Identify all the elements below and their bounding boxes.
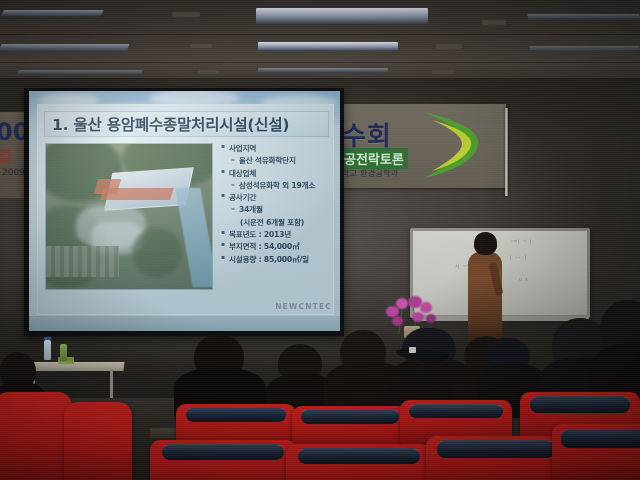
lecture-hall-photo: 00 업 2009. 수회 공전락토론 학교 환경공학과 1. 울산 용암폐수종… [0, 0, 640, 480]
bullet-item: 34개월 [220, 204, 325, 216]
slide-title: 1. 울산 용암폐수종말처리시설(신설) [44, 111, 329, 137]
bullet-item: 삼성석유화학 외 19개소 [220, 180, 325, 192]
green-bottle [60, 344, 67, 361]
presenter-head [474, 232, 497, 255]
ceiling-vent [432, 70, 454, 74]
bullet-item: 울산 석유화학단지 [220, 155, 325, 167]
ceiling-light-fixture [0, 10, 103, 17]
ceiling-light-fixture [17, 70, 142, 75]
auditorium-seat[interactable] [552, 424, 640, 480]
bullet-item: 사업지역 [220, 143, 325, 155]
auditorium-seat[interactable] [286, 444, 432, 480]
banner-swoosh-icon [422, 110, 500, 180]
ceiling-light-fixture [0, 44, 129, 52]
auditorium-seat[interactable] [0, 392, 72, 480]
whiteboard-writing: o x [519, 277, 528, 283]
ceiling-light-fixture [258, 68, 388, 73]
banner-subtitle: 공전락토론 [340, 148, 408, 169]
ceiling-light-fixture [256, 8, 428, 24]
ceiling-vent [190, 44, 212, 48]
ceiling-vent [172, 12, 200, 17]
ceiling-vent [436, 44, 462, 49]
auditorium-seat[interactable] [64, 402, 132, 480]
ceiling-vent [482, 20, 506, 25]
auditorium-seat[interactable] [150, 440, 296, 480]
projection-screen: 1. 울산 용암폐수종말처리시설(신설) 사업지역 울산 석 [24, 88, 344, 336]
presenter-person [466, 232, 504, 344]
auditorium-seat[interactable] [426, 436, 566, 480]
whiteboard-writing: ~=( ~ ) [511, 239, 532, 245]
bullet-item: 시설용량 : 85,000㎡/일 [220, 254, 325, 266]
ceiling [0, 0, 640, 84]
slide-photo-aerial-rendering [45, 143, 213, 290]
audience-person [182, 334, 258, 414]
ceiling-light-fixture [529, 46, 640, 52]
bullet-item: 공사기간 [220, 192, 325, 204]
slide-company-logo: NEWCNTEC [275, 302, 332, 311]
ceiling-vent [198, 70, 218, 74]
ceiling-light-fixture [258, 42, 398, 51]
banner-pole [505, 108, 508, 196]
bottle-cap [44, 337, 51, 340]
ceiling-light-fixture [527, 14, 640, 20]
bullet-item: 목표년도 : 2013년 [220, 229, 325, 241]
slide-bullet-list: 사업지역 울산 석유화학단지 대상업체 삼성석유화학 외 19개소 공사기간 3… [220, 143, 325, 266]
bullet-item: (시운전 6개월 포함) [220, 217, 325, 229]
event-banner: 수회 공전락토론 학교 환경공학과 [336, 104, 506, 188]
left-banner-red-text: 업 [0, 146, 11, 166]
auditorium-seat[interactable] [292, 406, 408, 448]
banner-department: 학교 환경공학과 [342, 168, 398, 179]
slide-content-panel: 1. 울산 용암폐수종말처리시설(신설) 사업지역 울산 석 [37, 104, 334, 315]
bullet-item: 부지면적 : 54,000㎡ [220, 241, 325, 253]
bullet-item: 대상업체 [220, 168, 325, 180]
whiteboard-writing: ( -- ) [509, 255, 527, 261]
slide-footer-bar [29, 316, 340, 331]
